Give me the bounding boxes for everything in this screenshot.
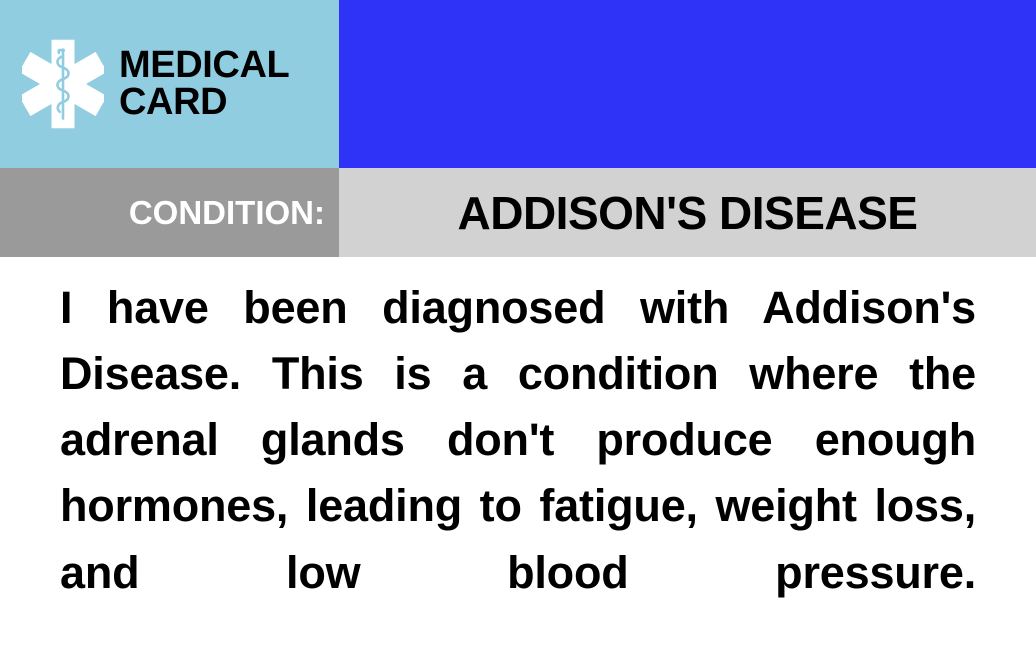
medical-card: MEDICAL CARD CONDITION: ADDISON'S DISEAS…: [0, 0, 1036, 660]
star-of-life-icon: [22, 38, 104, 130]
brand-title: MEDICAL CARD: [119, 47, 289, 121]
condition-label-cell: CONDITION:: [0, 168, 339, 257]
card-header: MEDICAL CARD: [0, 0, 1036, 168]
brand-panel: MEDICAL CARD: [0, 0, 339, 168]
header-accent-panel: [339, 0, 1036, 168]
condition-value: ADDISON'S DISEASE: [458, 190, 918, 236]
description-text: I have been diagnosed with Addison's Dis…: [60, 275, 976, 660]
condition-value-cell: ADDISON'S DISEASE: [339, 168, 1036, 257]
condition-label: CONDITION:: [129, 196, 325, 229]
condition-bar: CONDITION: ADDISON'S DISEASE: [0, 168, 1036, 257]
description-area: I have been diagnosed with Addison's Dis…: [0, 257, 1036, 660]
